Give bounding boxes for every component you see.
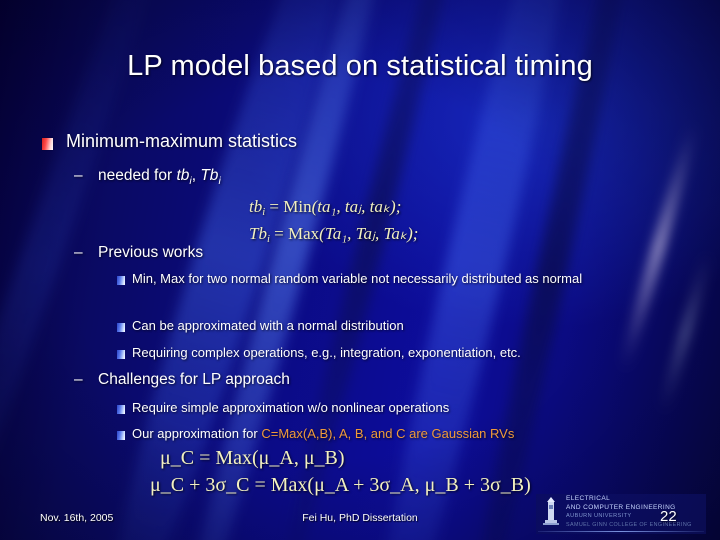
- logo-line-4: SAMUEL GINN COLLEGE OF ENGINEERING: [566, 521, 706, 530]
- logo-line-3: AUBURN UNIVERSITY: [566, 512, 706, 521]
- dash-text-needed-for: needed for tbi, Tbi: [98, 167, 221, 187]
- eq2-args: (Ta₁, Taⱼ, Taₖ);: [319, 224, 418, 243]
- logo-line-1: ELECTRICAL: [566, 495, 706, 504]
- eq1-function: Min: [283, 197, 311, 216]
- logo-text-block: ELECTRICAL AND COMPUTER ENGINEERING AUBU…: [566, 495, 706, 529]
- auburn-ece-logo: ELECTRICAL AND COMPUTER ENGINEERING AUBU…: [536, 494, 706, 534]
- bullet-marker-level3: [117, 405, 125, 414]
- equation-Tb-max: Tbi = Max(Ta₁, Taⱼ, Taₖ);: [249, 224, 418, 245]
- dash-marker-3: –: [74, 371, 83, 389]
- list-item: Can be approximated with a normal distri…: [132, 318, 684, 334]
- equation-tb-min: tbi = Min(ta₁, taⱼ, taₖ);: [249, 197, 401, 218]
- bullet-marker-level3: [117, 323, 125, 332]
- slide-body: Minimum-maximum statistics – needed for …: [0, 0, 720, 540]
- var-tb: tb: [176, 167, 189, 184]
- bullet-marker-level3: [117, 431, 125, 440]
- equation-mu-c-max: μ_C = Max(μ_A, μ_B): [160, 447, 345, 470]
- list-item: Requiring complex operations, e.g., inte…: [132, 345, 692, 361]
- logo-line-2: AND COMPUTER ENGINEERING: [566, 504, 706, 513]
- var-Tb-subscript: i: [218, 175, 220, 187]
- dash-text-previous-works: Previous works: [98, 244, 203, 262]
- eq2-function: Max: [288, 224, 319, 243]
- bullet-marker-level3: [117, 276, 125, 285]
- lighthouse-icon: [540, 496, 562, 530]
- dash-marker-1: –: [74, 167, 83, 185]
- list-item: Our approximation for C=Max(A,B), A, B, …: [132, 426, 514, 442]
- eq1-equals: =: [265, 197, 283, 216]
- dash-text-challenges: Challenges for LP approach: [98, 371, 290, 389]
- bullet-marker-level3: [117, 350, 125, 359]
- needed-for-label: needed for: [98, 167, 176, 184]
- var-Tb: Tb: [200, 167, 218, 184]
- eq2-equals: =: [270, 224, 288, 243]
- equation-mu-sigma-max: μ_C + 3σ_C = Max(μ_A + 3σ_A, μ_B + 3σ_B): [150, 474, 531, 497]
- page-number: 22: [660, 508, 677, 525]
- our-approximation-label: Our approximation for: [132, 426, 261, 441]
- gaussian-rv-highlight: C=Max(A,B), A, B, and C are Gaussian RVs: [261, 426, 514, 441]
- dash-marker-2: –: [74, 244, 83, 262]
- bullet-text-minimum-maximum-statistics: Minimum-maximum statistics: [66, 131, 297, 152]
- list-item: Require simple approximation w/o nonline…: [132, 400, 449, 416]
- slide-canvas: LP model based on statistical timing Min…: [0, 0, 720, 540]
- logo-underline: [538, 531, 704, 532]
- bullet-marker-level1: [42, 138, 53, 150]
- eq1-args: (ta₁, taⱼ, taₖ);: [312, 197, 402, 216]
- eq1-lhs: tb: [249, 197, 262, 216]
- eq2-lhs: Tb: [249, 224, 267, 243]
- list-item: Min, Max for two normal random variable …: [132, 271, 684, 287]
